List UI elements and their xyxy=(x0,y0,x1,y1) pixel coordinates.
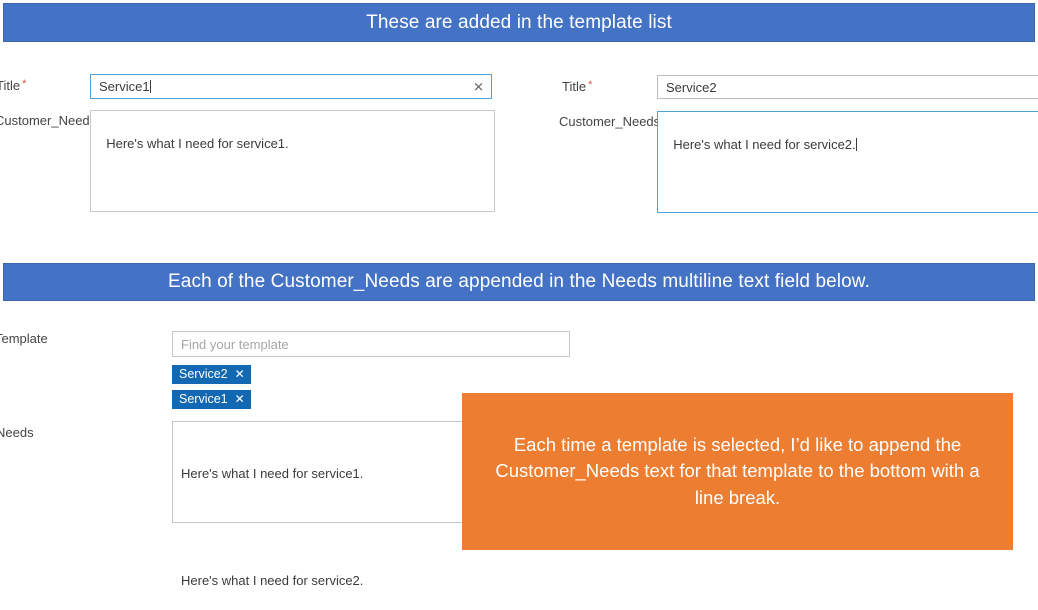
banner-top-text: These are added in the template list xyxy=(366,12,672,34)
needs-line-2: Here's what I need for service2. xyxy=(181,572,561,591)
right-title-label: Title* xyxy=(562,79,592,94)
right-customer-needs-label: Customer_Needs xyxy=(559,114,660,129)
template-chip-service1[interactable]: Service1✕ xyxy=(172,390,251,409)
right-title-required-mark: * xyxy=(588,79,592,91)
chip-remove-icon[interactable]: ✕ xyxy=(235,392,245,406)
banner-needs-appended: Each of the Customer_Needs are appended … xyxy=(3,263,1035,301)
right-customer-needs-textarea[interactable]: Here's what I need for service2. xyxy=(657,111,1038,213)
template-search-input[interactable]: Find your template xyxy=(172,331,570,357)
text-cursor xyxy=(856,138,857,151)
left-title-input[interactable]: Service1 ✕ xyxy=(90,74,492,99)
template-search-placeholder: Find your template xyxy=(181,337,289,352)
chip-remove-icon[interactable]: ✕ xyxy=(235,367,245,381)
left-customer-needs-label: Customer_Needs xyxy=(0,113,96,128)
left-customer-needs-textarea[interactable]: Here's what I need for service1. xyxy=(90,110,495,212)
left-customer-needs-value: Here's what I need for service1. xyxy=(106,136,288,151)
chip-label: Service2 xyxy=(179,367,228,381)
template-chip-service2[interactable]: Service2✕ xyxy=(172,365,251,384)
annotation-callout: Each time a template is selected, I’d li… xyxy=(462,393,1013,550)
banner-mid-text: Each of the Customer_Needs are appended … xyxy=(168,271,870,293)
right-title-value: Service2 xyxy=(666,80,717,95)
clear-x-icon[interactable]: ✕ xyxy=(473,80,484,93)
needs-label: Needs xyxy=(0,425,34,440)
banner-templates-added: These are added in the template list xyxy=(3,3,1035,42)
chip-label: Service1 xyxy=(179,392,228,406)
annotation-callout-text: Each time a template is selected, I’d li… xyxy=(480,432,995,511)
left-title-required-mark: * xyxy=(22,78,26,90)
right-title-input[interactable]: Service2 xyxy=(657,75,1038,99)
template-label: Template xyxy=(0,331,48,346)
text-cursor xyxy=(150,80,151,93)
left-title-label: Title* xyxy=(0,78,26,93)
right-customer-needs-value: Here's what I need for service2. xyxy=(673,137,855,152)
left-title-value: Service1 xyxy=(99,79,150,94)
